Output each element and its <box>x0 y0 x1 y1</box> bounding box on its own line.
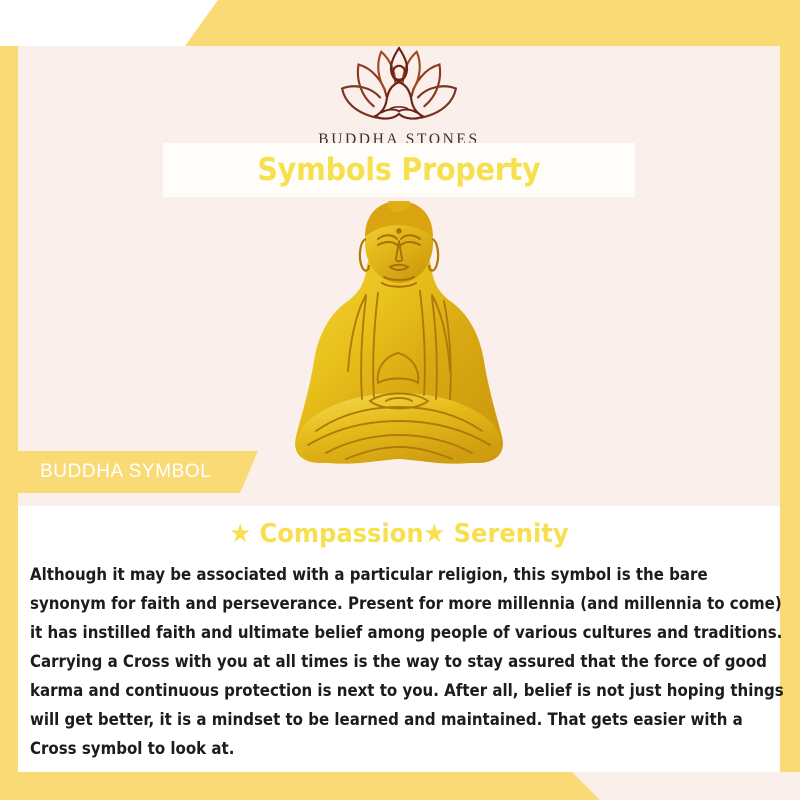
infographic-page: BUDDHA STONES Symbols Property <box>0 0 800 800</box>
ribbon-label: BUDDHA SYMBOL <box>18 461 211 483</box>
lotus-meditation-icon <box>335 43 463 129</box>
content-subtitle: ★ Compassion★ Serenity <box>45 519 754 549</box>
section-ribbon: BUDDHA SYMBOL <box>18 451 258 493</box>
brand-logo: BUDDHA STONES <box>18 46 780 149</box>
top-yellow-band <box>0 0 800 46</box>
page-title: Symbols Property <box>257 152 540 188</box>
content-section: ★ Compassion★ Serenity Although it may b… <box>18 506 780 772</box>
content-paragraph: Although it may be associated with a par… <box>30 560 786 763</box>
seated-buddha-statue-icon <box>292 201 507 491</box>
title-band: Symbols Property <box>163 143 635 197</box>
left-yellow-strip <box>0 46 18 800</box>
hero-section: BUDDHA STONES Symbols Property <box>18 46 780 506</box>
